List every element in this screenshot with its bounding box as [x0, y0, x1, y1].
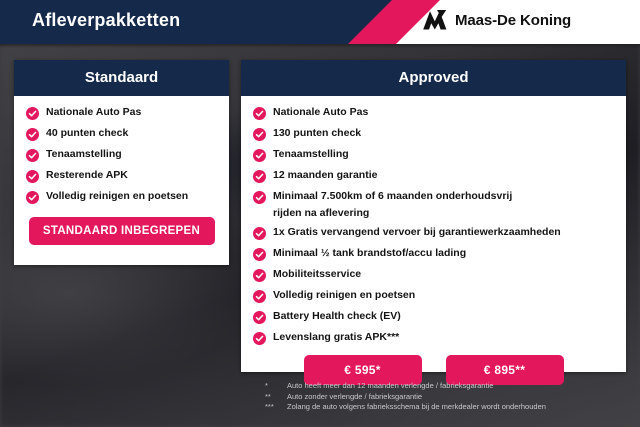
check-circle-icon [26, 149, 39, 162]
list-item: Minimaal 7.500km of 6 maanden onderhouds… [253, 190, 614, 204]
list-item-label: Tenaamstelling [273, 148, 349, 160]
card-approved: Approved Nationale Auto Pas 130 punten c… [241, 60, 626, 372]
list-item-label: Minimaal 7.500km of 6 maanden onderhouds… [273, 190, 512, 202]
list-item: 1x Gratis vervangend vervoer bij garanti… [253, 226, 614, 240]
list-item: Volledig reinigen en poetsen [253, 289, 614, 303]
list-item-label: Volledig reinigen en poetsen [273, 289, 415, 301]
list-item: 40 punten check [26, 127, 217, 141]
promo-screen: Afleverpakketten Maas-De Koning Standaar… [0, 0, 640, 427]
check-circle-icon [253, 191, 266, 204]
list-item: Minimaal ½ tank brandstof/accu lading [253, 247, 614, 261]
check-circle-icon [253, 311, 266, 324]
list-item-label: Nationale Auto Pas [46, 106, 141, 118]
footnote-marker: *** [265, 402, 287, 413]
standaard-inbegrepen-button[interactable]: STANDAARD INBEGREPEN [29, 217, 215, 245]
check-circle-icon [26, 128, 39, 141]
check-circle-icon [253, 332, 266, 345]
list-item-label: Minimaal ½ tank brandstof/accu lading [273, 247, 466, 259]
list-item: Levenslang gratis APK*** [253, 331, 614, 345]
check-circle-icon [253, 290, 266, 303]
list-item: Tenaamstelling [253, 148, 614, 162]
list-item: Nationale Auto Pas [26, 106, 217, 120]
footnote-3: *** Zolang de auto volgens fabrieksschem… [265, 402, 627, 413]
brand-logo[interactable]: Maas-De Koning [422, 9, 571, 31]
check-circle-icon [26, 107, 39, 120]
list-item-label: Tenaamstelling [46, 148, 122, 160]
list-item: Mobiliteitsservice [253, 268, 614, 282]
footnote-1: * Auto heeft meer dan 12 maanden verleng… [265, 381, 627, 392]
footnotes: * Auto heeft meer dan 12 maanden verleng… [265, 381, 627, 413]
brand-name: Maas-De Koning [455, 12, 571, 29]
footnote-text: Zolang de auto volgens fabrieksschema bi… [287, 402, 627, 413]
header-shadow [0, 44, 640, 48]
check-circle-icon [26, 191, 39, 204]
list-item-label: Nationale Auto Pas [273, 106, 368, 118]
list-item-label: 130 punten check [273, 127, 361, 139]
check-circle-icon [253, 227, 266, 240]
list-item: Battery Health check (EV) [253, 310, 614, 324]
list-item-label: Volledig reinigen en poetsen [46, 190, 188, 202]
list-item: 130 punten check [253, 127, 614, 141]
page-title: Afleverpakketten [32, 10, 180, 31]
card-approved-title: Approved [241, 60, 626, 96]
list-item: 12 maanden garantie [253, 169, 614, 183]
check-circle-icon [26, 170, 39, 183]
list-item-label-continuation: rijden na aflevering [273, 207, 614, 219]
page-header: Afleverpakketten Maas-De Koning [0, 0, 640, 44]
card-approved-body: Nationale Auto Pas 130 punten check Tena… [241, 96, 626, 385]
list-item-label: Resterende APK [46, 169, 128, 181]
card-standaard-title: Standaard [14, 60, 229, 96]
card-standaard-body: Nationale Auto Pas 40 punten check Tenaa… [14, 96, 229, 245]
list-item: Volledig reinigen en poetsen [26, 190, 217, 204]
footnote-text: Auto zonder verlengde / fabrieksgarantie [287, 392, 627, 403]
list-item: Nationale Auto Pas [253, 106, 614, 120]
list-item-label: 12 maanden garantie [273, 169, 377, 181]
footnote-marker: ** [265, 392, 287, 403]
footnote-text: Auto heeft meer dan 12 maanden verlengde… [287, 381, 627, 392]
check-circle-icon [253, 128, 266, 141]
check-circle-icon [253, 170, 266, 183]
check-circle-icon [253, 107, 266, 120]
footnote-2: ** Auto zonder verlengde / fabrieksgaran… [265, 392, 627, 403]
check-circle-icon [253, 248, 266, 261]
list-item-label: 40 punten check [46, 127, 128, 139]
check-circle-icon [253, 269, 266, 282]
list-item-label: Levenslang gratis APK*** [273, 331, 399, 343]
footnote-marker: * [265, 381, 287, 392]
list-item: Tenaamstelling [26, 148, 217, 162]
list-item: Resterende APK [26, 169, 217, 183]
list-item-label: Battery Health check (EV) [273, 310, 401, 322]
list-item-label: 1x Gratis vervangend vervoer bij garanti… [273, 226, 561, 238]
card-standaard: Standaard Nationale Auto Pas 40 punten c… [14, 60, 229, 265]
check-circle-icon [253, 149, 266, 162]
list-item-label: Mobiliteitsservice [273, 268, 361, 280]
maas-de-koning-logo-icon [422, 9, 448, 31]
